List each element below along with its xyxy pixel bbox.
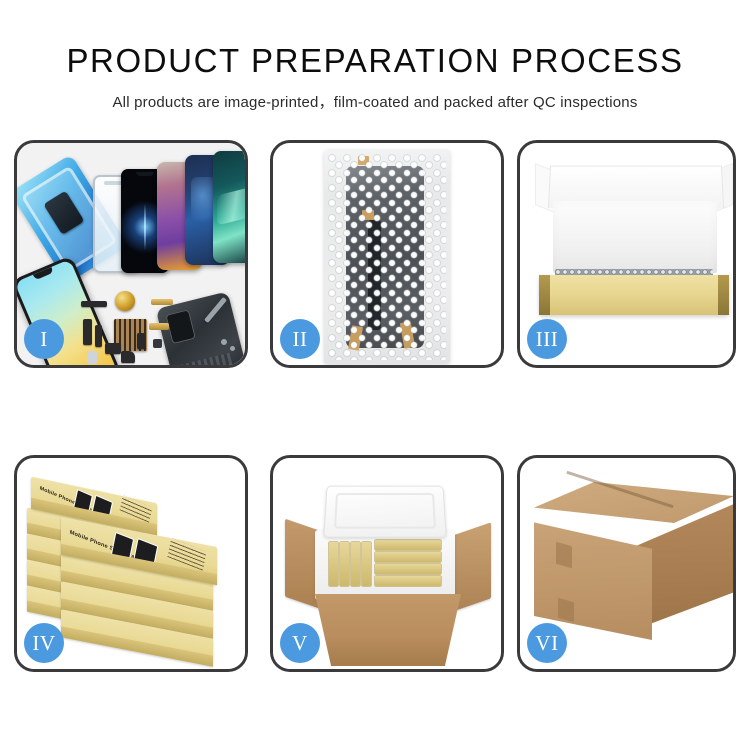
carton-front-face: [534, 520, 652, 640]
lcd-wallpaper-ray: [144, 204, 146, 250]
foam-case-lid: [323, 486, 447, 538]
panel-step-2[interactable]: II: [270, 140, 504, 368]
packed-box-6: [375, 552, 441, 562]
screw-part-b: [230, 346, 235, 351]
flex-cable-part-a: [83, 319, 92, 345]
packed-boxes-group: [327, 538, 443, 588]
step-badge-2: II: [280, 319, 320, 359]
foam-sheet: [553, 201, 717, 273]
panel-step-3[interactable]: III: [517, 140, 736, 368]
packed-box-3: [351, 542, 360, 586]
flex-cable-part-b: [95, 325, 102, 347]
step-badge-1: I: [24, 319, 64, 359]
packed-box-4: [362, 542, 371, 586]
packed-box-5: [375, 540, 441, 550]
button-part: [153, 339, 162, 348]
earpiece-speaker-part: [81, 301, 107, 307]
lcd-notch: [136, 172, 154, 176]
step-badge-5: V: [280, 623, 320, 663]
step-badge-3: III: [527, 319, 567, 359]
sim-tray-part: [87, 351, 97, 364]
camera-module-part: [105, 343, 121, 354]
kraft-tray: [539, 275, 729, 315]
carton-body: [315, 594, 461, 666]
carton-tape-upper: [556, 542, 572, 569]
packed-box-7: [375, 564, 441, 574]
bubble-texture: [328, 154, 446, 360]
gold-connector-b: [149, 323, 169, 330]
packed-box-2: [340, 542, 349, 586]
open-inner-box: [539, 165, 729, 315]
packed-box-1: [329, 542, 338, 586]
panel-step-4[interactable]: Mobile Phone Spare Parts Mobile Phone Sp…: [14, 455, 248, 672]
screw-part-a: [221, 339, 227, 345]
step-badge-6: VI: [527, 623, 567, 663]
panel-step-5[interactable]: V: [270, 455, 504, 672]
antenna-part: [137, 333, 145, 349]
carton-tape-lower: [558, 598, 574, 623]
bubble-bag: [324, 150, 450, 364]
product-preparation-infographic: PRODUCT PREPARATION PROCESS All products…: [0, 0, 750, 750]
sealed-carton: [534, 482, 733, 654]
step-badge-4: IV: [24, 623, 64, 663]
vibration-motor-part: [115, 291, 135, 311]
process-grid: I II: [0, 0, 750, 750]
packed-box-8: [375, 576, 441, 586]
charging-port-part: [121, 351, 135, 363]
phone-teal: [213, 151, 245, 263]
gold-connector-a: [151, 299, 173, 305]
panel-step-6[interactable]: VI: [517, 455, 736, 672]
panel-step-1[interactable]: I: [14, 140, 248, 368]
